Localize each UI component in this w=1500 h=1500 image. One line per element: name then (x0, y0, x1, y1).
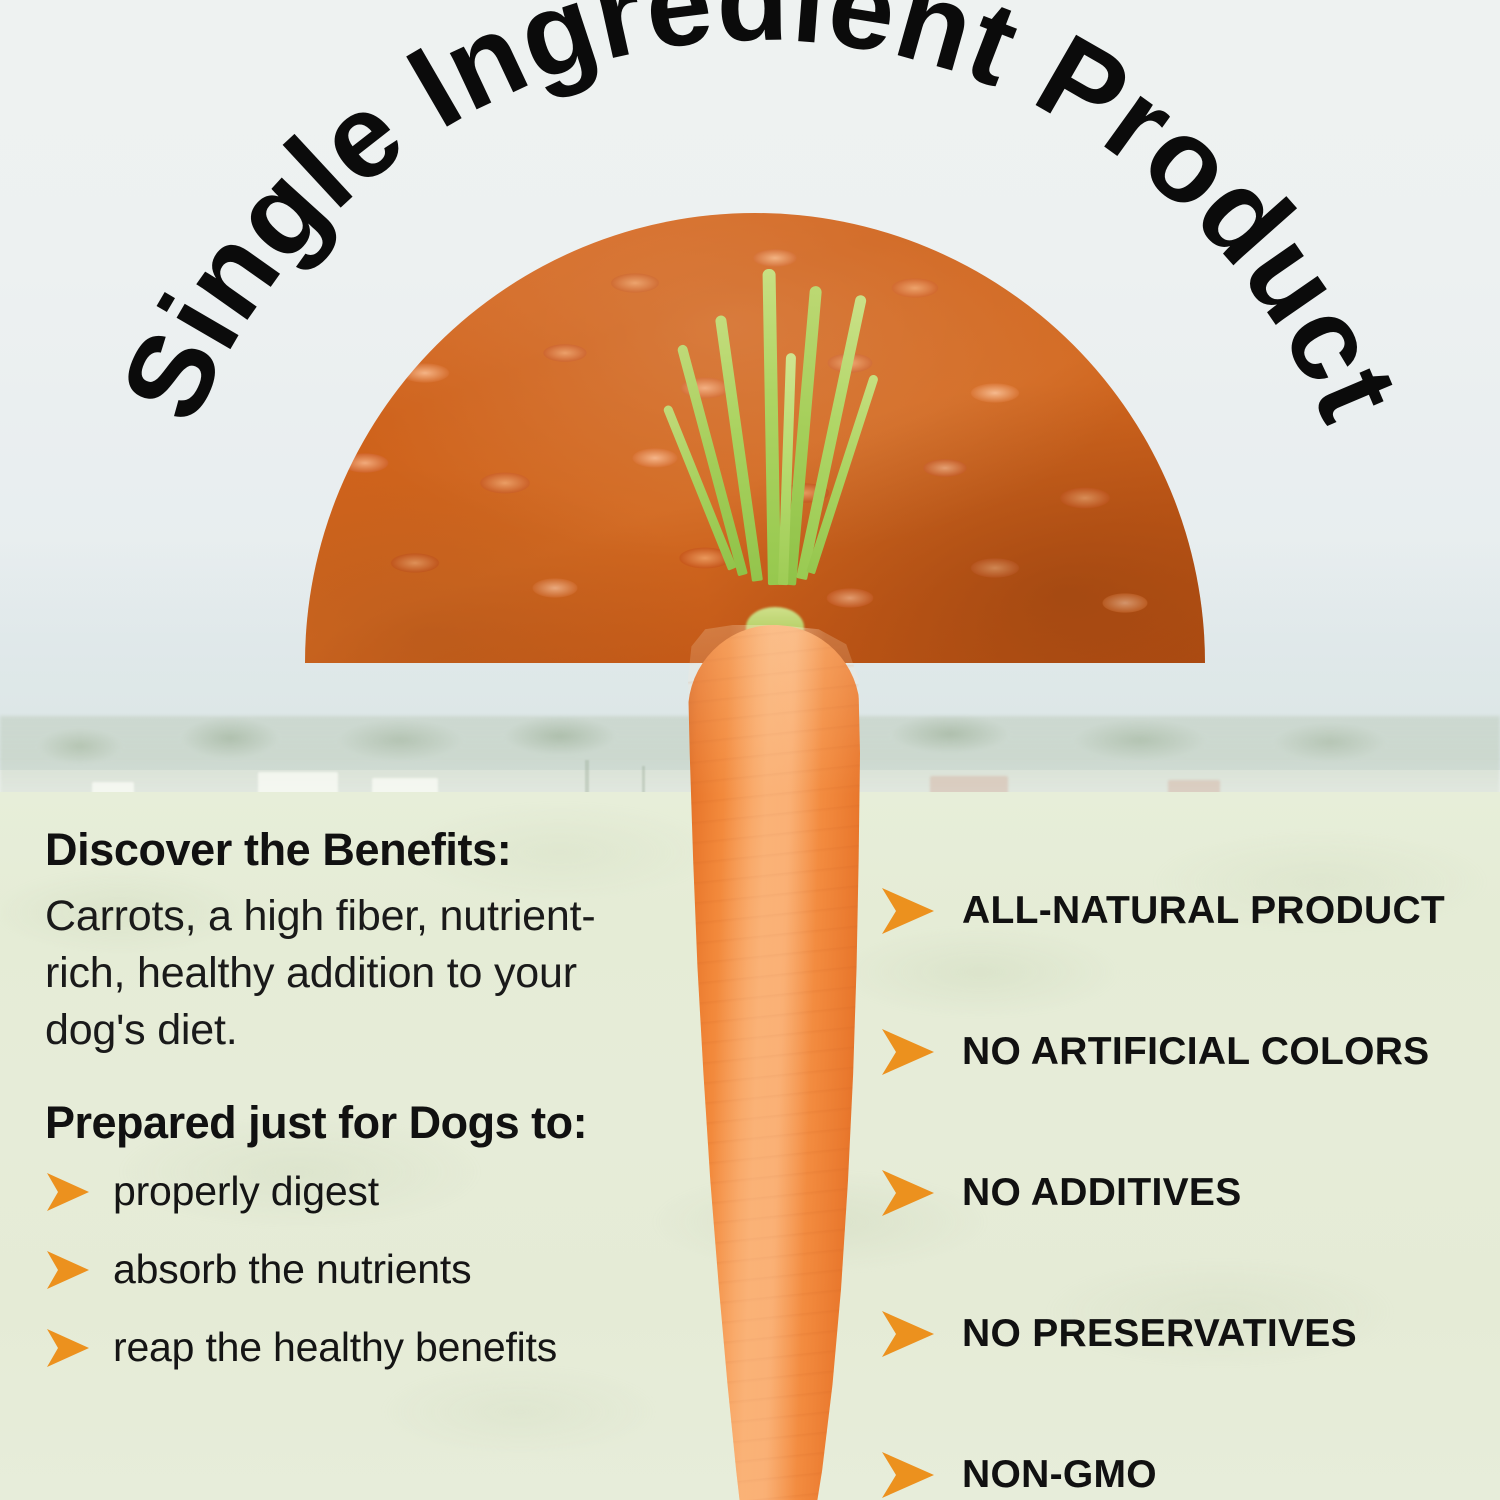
list-item: properly digest (45, 1153, 665, 1231)
list-item: reap the healthy benefits (45, 1309, 665, 1387)
arrow-bullet-icon (880, 1027, 936, 1077)
claim-label: ALL-NATURAL PRODUCT (962, 889, 1445, 933)
list-item: NO ARTIFICIAL COLORS (880, 981, 1480, 1122)
prepared-list: properly digest absorb the nutrients rea… (45, 1153, 665, 1387)
prepared-item-label: absorb the nutrients (113, 1246, 471, 1293)
benefits-heading: Discover the Benefits: (45, 826, 665, 874)
arrow-bullet-icon (880, 1168, 936, 1218)
arrow-bullet-icon (45, 1171, 91, 1213)
curved-headline: Single Ingredient Product (0, 0, 1500, 760)
claim-label: NO PRESERVATIVES (962, 1312, 1357, 1356)
prepared-item-label: reap the healthy benefits (113, 1324, 557, 1371)
benefits-column: Discover the Benefits: Carrots, a high f… (45, 826, 665, 1387)
claim-label: NO ADDITIVES (962, 1171, 1242, 1215)
list-item: absorb the nutrients (45, 1231, 665, 1309)
claim-label: NON-GMO (962, 1453, 1157, 1497)
infographic-canvas: Single Ingredient Product Discover the B… (0, 0, 1500, 1500)
prepared-block: Prepared just for Dogs to: properly dige… (45, 1099, 665, 1387)
prepared-item-label: properly digest (113, 1168, 379, 1215)
list-item: ALL-NATURAL PRODUCT (880, 840, 1480, 981)
benefits-body: Carrots, a high fiber, nutrient-rich, he… (45, 888, 665, 1060)
arrow-bullet-icon (880, 1450, 936, 1500)
list-item: NO ADDITIVES (880, 1122, 1480, 1263)
arrow-bullet-icon (45, 1249, 91, 1291)
claim-label: NO ARTIFICIAL COLORS (962, 1030, 1430, 1074)
arrow-bullet-icon (880, 1309, 936, 1359)
prepared-heading: Prepared just for Dogs to: (45, 1099, 665, 1147)
arrow-bullet-icon (45, 1327, 91, 1369)
list-item: NO PRESERVATIVES (880, 1263, 1480, 1404)
claims-column: ALL-NATURAL PRODUCT NO ARTIFICIAL COLORS… (880, 840, 1480, 1500)
arrow-bullet-icon (880, 886, 936, 936)
headline-text: Single Ingredient Product (96, 0, 1425, 439)
list-item: NON-GMO (880, 1404, 1480, 1500)
claims-list: ALL-NATURAL PRODUCT NO ARTIFICIAL COLORS… (880, 840, 1480, 1500)
